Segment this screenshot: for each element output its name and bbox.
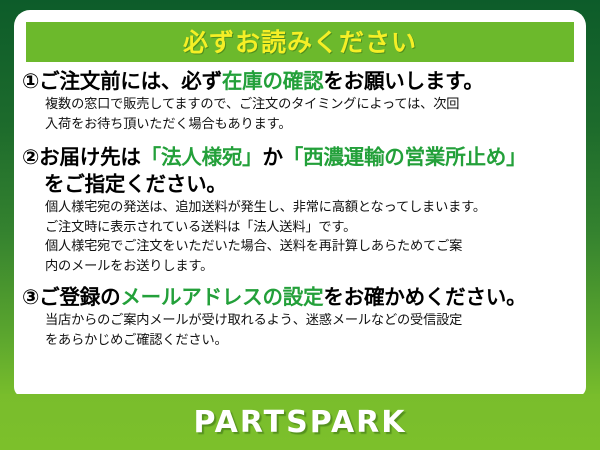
- notice-items: ①ご注文前には、必ず在庫の確認をお願いします。 複数の窓口で販売してますので、ご…: [14, 68, 586, 351]
- item-3-marker: ③: [22, 285, 39, 309]
- item-2-headline-continuation: をご指定ください。: [14, 171, 586, 198]
- brand-logo: PARTSPARK: [193, 405, 406, 440]
- notice-item-1: ①ご注文前には、必ず在庫の確認をお願いします。 複数の窓口で販売してますので、ご…: [14, 68, 586, 135]
- header-bar: 必ずお読みください: [26, 22, 574, 62]
- spacer-2: [14, 277, 586, 284]
- spacer-1: [14, 135, 586, 144]
- footer-bar: PARTSPARK: [0, 394, 600, 450]
- item-3-body-line-2: をあらかじめご確認ください。: [14, 331, 586, 351]
- item-2-headline-highlight-2: 「西濃運輸の営業所止め」: [283, 145, 527, 169]
- item-1-headline-post: をお願いします。: [323, 69, 483, 93]
- item-2-body-line-4: 内のメールをお送りします。: [14, 257, 586, 277]
- item-1-headline-pre: ご注文前には、必ず: [39, 69, 222, 93]
- item-2-marker: ②: [22, 145, 39, 169]
- item-1-body-line-2: 入荷をお待ち頂いただく場合もあります。: [14, 115, 586, 135]
- item-2-headline-pre: お届け先は: [39, 145, 141, 169]
- item-3-headline-highlight: メールアドレスの設定: [120, 285, 323, 309]
- item-3-body-line-1: 当店からのご案内メールが受け取れるよう、迷惑メールなどの受信設定: [14, 311, 586, 331]
- item-1-body-line-1: 複数の窓口で販売してますので、ご注文のタイミングによっては、次回: [14, 95, 586, 115]
- item-2-body-line-1: 個人様宅宛の発送は、追加送料が発生し、非常に高額となってしまいます。: [14, 198, 586, 218]
- item-2-headline-mid: か: [262, 145, 282, 169]
- page-title: 必ずお読みください: [183, 30, 417, 55]
- notice-card: 必ずお読みください ①ご注文前には、必ず在庫の確認をお願いします。 複数の窓口で…: [0, 0, 600, 450]
- item-2-headline-highlight: 「法人様宛」: [141, 145, 263, 169]
- item-3-headline: ③ご登録のメールアドレスの設定をお確かめください。: [14, 284, 586, 311]
- item-2-body-line-2: ご注文時に表示されている送料は「法人送料」です。: [14, 218, 586, 238]
- item-3-headline-post: をお確かめください。: [323, 285, 526, 309]
- notice-panel: 必ずお読みください ①ご注文前には、必ず在庫の確認をお願いします。 複数の窓口で…: [14, 10, 586, 397]
- item-1-marker: ①: [22, 69, 39, 93]
- item-1-headline: ①ご注文前には、必ず在庫の確認をお願いします。: [14, 68, 586, 95]
- notice-item-3: ③ご登録のメールアドレスの設定をお確かめください。 当店からのご案内メールが受け…: [14, 284, 586, 351]
- item-3-headline-pre: ご登録の: [39, 285, 120, 309]
- notice-item-2: ②お届け先は「法人様宛」か「西濃運輸の営業所止め」 をご指定ください。 個人様宅…: [14, 144, 586, 277]
- item-1-headline-highlight: 在庫の確認: [222, 69, 324, 93]
- item-2-headline: ②お届け先は「法人様宛」か「西濃運輸の営業所止め」: [14, 144, 586, 171]
- item-2-body-line-3: 個人様宅宛でご注文をいただいた場合、送料を再計算しあらためてご案: [14, 237, 586, 257]
